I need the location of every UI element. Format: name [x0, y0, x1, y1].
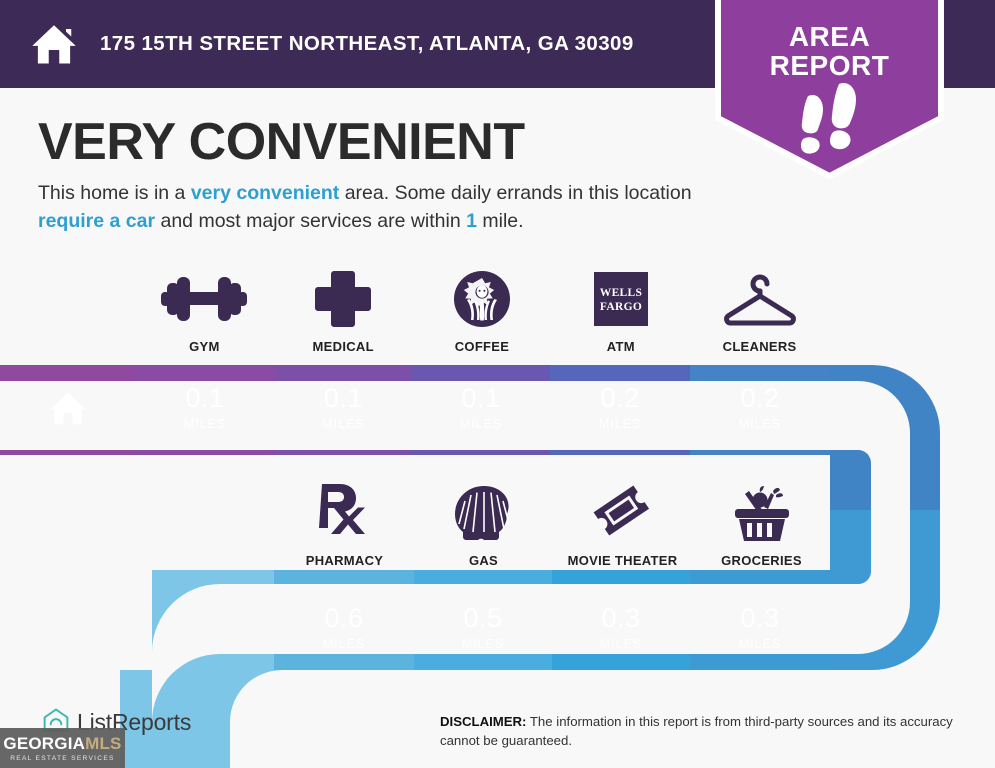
hero-text-2: area. Some daily errands in this locatio…	[339, 182, 691, 204]
amenity-label: MEDICAL	[313, 339, 374, 354]
home-icon	[48, 388, 88, 428]
distance-unit: MILES	[323, 637, 366, 651]
distance-value: 0.2	[600, 385, 639, 412]
distance-unit: MILES	[739, 417, 782, 431]
distance-value: 0.1	[461, 385, 500, 412]
distance-unit: MILES	[184, 417, 227, 431]
amenity-gym: GYM	[135, 268, 274, 354]
page-title: VERY CONVENIENT	[38, 112, 525, 172]
home-icon	[30, 20, 78, 68]
distance-value: 0.2	[740, 385, 779, 412]
area-report-page: 175 15TH STREET NORTHEAST, ATLANTA, GA 3…	[0, 0, 995, 768]
distance-medical: 0.1 MILES	[275, 365, 412, 450]
distance-unit: MILES	[462, 637, 505, 651]
ribbon-start-home	[0, 365, 135, 450]
area-report-badge: AREA REPORT	[712, 0, 947, 182]
amenity-label: GYM	[189, 339, 220, 354]
amenity-cleaners: CLEANERS	[690, 268, 829, 354]
disclaimer: DISCLAIMER: The information in this repo…	[440, 712, 980, 750]
distance-value: 0.1	[324, 385, 363, 412]
distance-value: 0.5	[463, 605, 502, 632]
distance-cleaners: 0.2 MILES	[690, 365, 830, 450]
amenity-label: ATM	[607, 339, 635, 354]
distance-movie-theater: 0.3 MILES	[552, 585, 690, 670]
watermark-georgia: GEORGIA	[3, 734, 85, 753]
svg-text:WELLS: WELLS	[600, 287, 642, 299]
distance-coffee: 0.1 MILES	[412, 365, 550, 450]
medical-cross-icon	[313, 268, 373, 330]
starbucks-icon	[453, 268, 511, 330]
header-content: 175 15TH STREET NORTHEAST, ATLANTA, GA 3…	[30, 0, 634, 88]
distance-unit: MILES	[599, 417, 642, 431]
hero-description: This home is in a very convenient area. …	[38, 180, 708, 235]
amenity-label: CLEANERS	[723, 339, 797, 354]
hero-highlight-3: 1	[466, 210, 477, 232]
amenity-coffee: COFFEE	[413, 268, 552, 354]
property-address: 175 15TH STREET NORTHEAST, ATLANTA, GA 3…	[100, 32, 634, 56]
distance-value: 0.1	[185, 385, 224, 412]
wells-fargo-icon: WELLS FARGO	[592, 268, 650, 330]
distance-unit: MILES	[600, 637, 643, 651]
distance-value: 0.3	[601, 605, 640, 632]
watermark-tagline: REAL ESTATE SERVICES	[10, 755, 115, 762]
georgia-mls-watermark: GEORGIAMLS REAL ESTATE SERVICES	[0, 728, 125, 768]
distance-unit: MILES	[739, 637, 782, 651]
svg-text:FARGO: FARGO	[600, 301, 642, 313]
watermark-mls: MLS	[85, 734, 121, 753]
amenity-icon-row-1: GYM MEDICAL	[135, 268, 829, 354]
distance-gas: 0.5 MILES	[414, 585, 552, 670]
amenity-label: COFFEE	[455, 339, 510, 354]
watermark-name: GEORGIAMLS	[3, 735, 121, 752]
distance-pharmacy: 0.6 MILES	[274, 585, 414, 670]
distance-unit: MILES	[460, 417, 503, 431]
amenity-medical: MEDICAL	[274, 268, 413, 354]
distance-unit: MILES	[322, 417, 365, 431]
amenity-atm: WELLS FARGO ATM	[551, 268, 690, 354]
disclaimer-label: DISCLAIMER:	[440, 714, 526, 729]
distance-groceries: 0.3 MILES	[690, 585, 830, 670]
hero-text-1: This home is in a	[38, 182, 191, 204]
dumbbell-icon	[159, 268, 249, 330]
hero-highlight-1: very convenient	[191, 182, 339, 204]
hero-highlight-2: require a car	[38, 210, 155, 232]
distance-value: 0.3	[740, 605, 779, 632]
distance-value: 0.6	[324, 605, 363, 632]
hero-text-3: and most major services are within	[155, 210, 466, 232]
hero-text-4: mile.	[477, 210, 524, 232]
distance-gym: 0.1 MILES	[135, 365, 275, 450]
hanger-icon	[718, 268, 802, 330]
distance-atm: 0.2 MILES	[550, 365, 690, 450]
